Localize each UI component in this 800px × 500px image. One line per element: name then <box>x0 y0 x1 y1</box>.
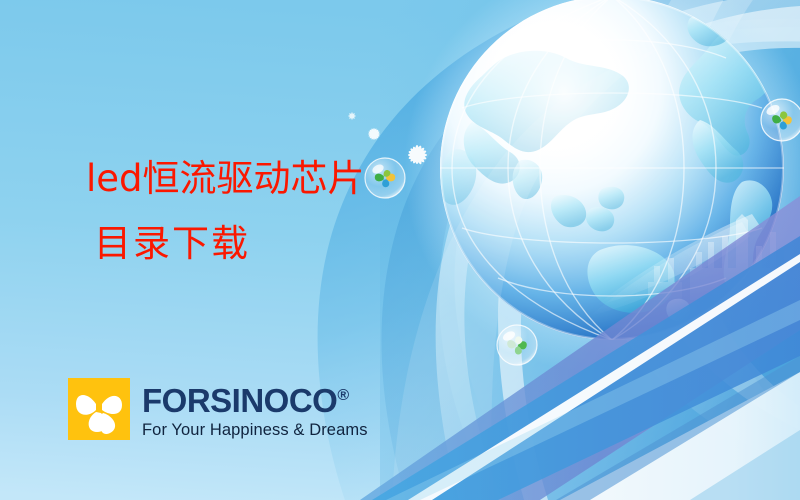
registered-mark: ® <box>337 387 349 404</box>
logo-wordmark: FORSINOCO® For Your Happiness & Dreams <box>142 379 368 439</box>
banner-canvas: led恒流驱动芯片 目录下载 FORSINOCO® For Your Happi… <box>0 0 800 500</box>
bubble-logo-3 <box>761 99 800 141</box>
sparkle-3 <box>348 112 356 120</box>
brand-text: FORSINOCO <box>142 382 337 419</box>
pinwheel-icon <box>68 378 130 440</box>
company-logo: FORSINOCO® For Your Happiness & Dreams <box>68 378 368 440</box>
brand-name: FORSINOCO® <box>142 379 368 417</box>
forsinoco-pinwheel-mark-icon <box>68 378 130 440</box>
bubble-logo-1 <box>365 158 405 198</box>
bubble-logo-2 <box>497 325 537 365</box>
brand-tagline: For Your Happiness & Dreams <box>142 421 368 439</box>
